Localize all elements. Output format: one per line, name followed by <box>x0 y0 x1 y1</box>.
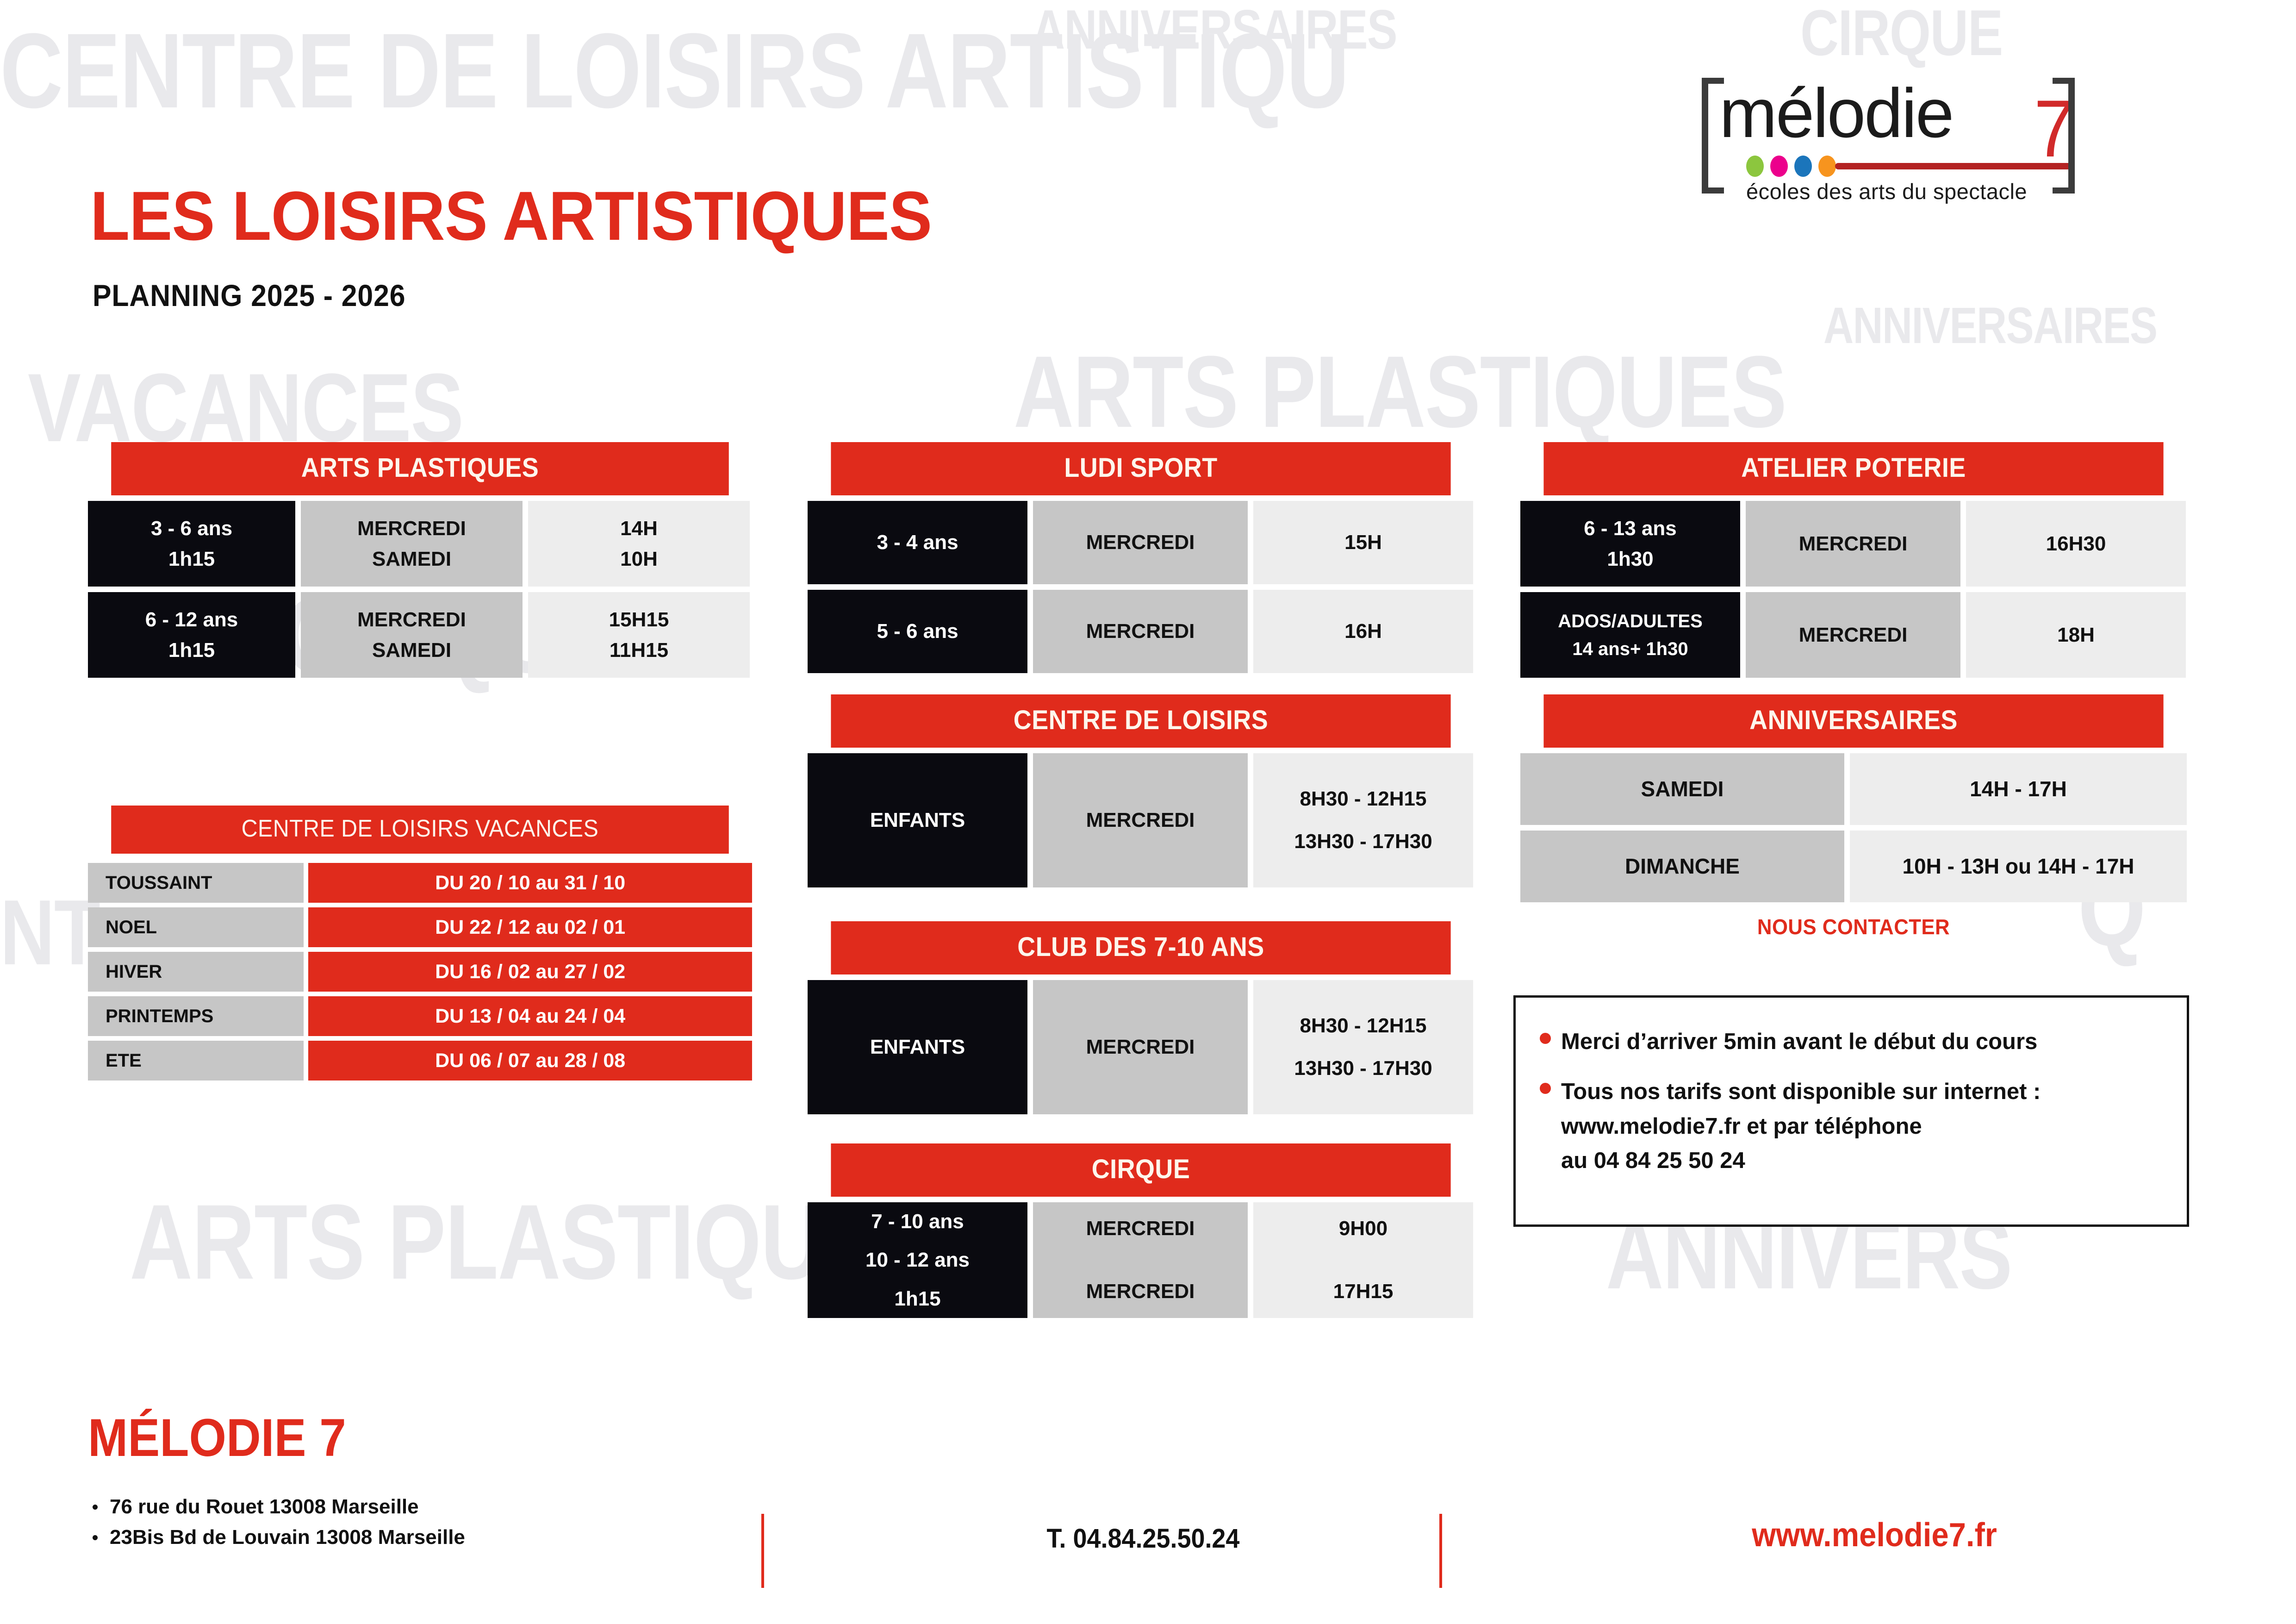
cell-text: 10H <box>620 544 658 575</box>
cell-age-group: 7 - 10 ans10 - 12 ans1h15 <box>808 1202 1027 1318</box>
table-arts-plastiques: ARTS PLASTIQUES 3 - 6 ans1h15MERCREDISAM… <box>88 442 752 678</box>
table-row: 6 - 13 ans1h30MERCREDI16H30 <box>1520 501 2187 587</box>
caption-cirque: CIRQUE <box>831 1143 1450 1197</box>
caption-atelier-poterie: ATELIER POTERIE <box>1543 442 2163 495</box>
bracket-right-bottom <box>2053 187 2075 194</box>
cell-text: 1h30 <box>1607 544 1653 575</box>
table-cirque: CIRQUE 7 - 10 ans10 - 12 ans1h15MERCREDI… <box>808 1143 1474 1318</box>
table-atelier-poterie: ATELIER POTERIE 6 - 13 ans1h30MERCREDI16… <box>1520 442 2187 678</box>
table-row: ADOS/ADULTES14 ans+ 1h30MERCREDI18H <box>1520 592 2187 678</box>
bullet-dot-icon <box>93 1535 98 1540</box>
vacances-row: TOUSSAINTDU 20 / 10 au 31 / 10 <box>88 863 752 903</box>
vacances-period-name: PRINTEMPS <box>88 996 304 1036</box>
table-row: 3 - 4 ansMERCREDI15H <box>808 501 1474 584</box>
cell-text: 1h15 <box>168 544 215 575</box>
footer-phone[interactable]: T. 04.84.25.50.24 <box>950 1523 1337 1554</box>
cell-day: MERCREDI <box>1033 980 1248 1114</box>
table-anniversaires: ANNIVERSAIRES SAMEDI14H - 17HDIMANCHE10H… <box>1520 694 2187 939</box>
table-row: 5 - 6 ansMERCREDI16H <box>808 590 1474 673</box>
cell-text: MERCREDI <box>357 513 466 544</box>
cell-text: 1h15 <box>168 635 215 666</box>
cell-text: MERCREDI <box>1799 620 1908 650</box>
table-vacances: CENTRE DE LOISIRS VACANCES TOUSSAINTDU 2… <box>88 806 752 1085</box>
logo-wordmark: mélodie <box>1719 73 1953 153</box>
melodie7-logo: mélodie 7 écoles des arts du spectacle <box>1692 65 2108 204</box>
cell-text: MERCREDI <box>1086 805 1195 836</box>
footer-address-text: 76 rue du Rouet 13008 Marseille <box>110 1495 419 1518</box>
footer-website[interactable]: www.melodie7.fr <box>1616 1516 2133 1554</box>
page-subtitle: PLANNING 2025 - 2026 <box>93 278 405 313</box>
cell-text: MERCREDI <box>1799 529 1908 559</box>
vacances-period-dates: DU 20 / 10 au 31 / 10 <box>308 863 752 903</box>
bracket-left-bottom <box>1702 187 1724 194</box>
table-row: DIMANCHE10H - 13H ou 14H - 17H <box>1520 831 2187 902</box>
cell-text: 13H30 - 17H30 <box>1294 820 1432 863</box>
cell-text: 15H15 <box>609 605 669 635</box>
cell-day: MERCREDI <box>1746 501 1960 587</box>
vacances-row: ETEDU 06 / 07 au 28 / 08 <box>88 1041 752 1081</box>
cell-day: MERCREDI <box>1746 592 1960 678</box>
dot-pink <box>1770 156 1788 177</box>
caption-vacances: CENTRE DE LOISIRS VACANCES <box>111 806 729 854</box>
cell-text: MERCREDI <box>1086 1197 1195 1260</box>
cell-text: 10 - 12 ans <box>865 1241 970 1280</box>
bracket-left-stem <box>1702 78 1708 194</box>
info-bullet-text: Tous nos tarifs sont disponible sur inte… <box>1561 1074 2041 1178</box>
cell-age-group: ENFANTS <box>808 753 1027 887</box>
cell-text: 8H30 - 12H15 <box>1300 1005 1427 1047</box>
cell-text: 3 - 6 ans <box>151 513 232 544</box>
vacances-period-dates: DU 06 / 07 au 28 / 08 <box>308 1041 752 1081</box>
cell-text: 1h15 <box>894 1280 940 1318</box>
caption-centre-loisirs: CENTRE DE LOISIRS <box>831 694 1450 748</box>
cell-text: 8H30 - 12H15 <box>1300 778 1427 820</box>
bullet-dot-icon <box>93 1505 98 1510</box>
cell-time: 8H30 - 12H1513H30 - 17H30 <box>1253 980 1473 1114</box>
info-bullet-item: Merci d’arriver 5min avant le début du c… <box>1540 1024 2163 1059</box>
cell-age-group: 3 - 6 ans1h15 <box>88 501 295 587</box>
cell-day: MERCREDISAMEDI <box>301 501 523 587</box>
cell-text: MERCREDI <box>1086 527 1195 558</box>
cell-text: ENFANTS <box>870 805 965 836</box>
footer-address-item: 23Bis Bd de Louvain 13008 Marseille <box>93 1526 465 1549</box>
nous-contacter-label: NOUS CONTACTER <box>1537 914 2170 939</box>
cell-age-group: 6 - 12 ans1h15 <box>88 592 295 678</box>
cell-text: ENFANTS <box>870 1032 965 1062</box>
logo-rule <box>1835 163 2071 169</box>
cell-time: 14H10H <box>528 501 750 587</box>
cell-day: MERCREDISAMEDI <box>301 592 523 678</box>
caption-arts-plastiques: ARTS PLASTIQUES <box>111 442 729 495</box>
vacances-period-name: ETE <box>88 1041 304 1081</box>
table-row: ENFANTSMERCREDI8H30 - 12H1513H30 - 17H30 <box>808 753 1474 887</box>
cell-text: SAMEDI <box>372 544 451 575</box>
table-ludi-sport: LUDI SPORT 3 - 4 ansMERCREDI15H5 - 6 ans… <box>808 442 1474 673</box>
cell-text: 9H00 <box>1339 1197 1388 1260</box>
cell-text: 5 - 6 ans <box>877 616 958 647</box>
vacances-row: PRINTEMPSDU 13 / 04 au 24 / 04 <box>88 996 752 1036</box>
info-box: Merci d’arriver 5min avant le début du c… <box>1513 995 2189 1227</box>
cell-text: 7 - 10 ans <box>871 1202 964 1241</box>
cell-text: 6 - 13 ans <box>1584 513 1677 544</box>
table-row: 7 - 10 ans10 - 12 ans1h15MERCREDIMERCRED… <box>808 1202 1474 1318</box>
cell-age-group: ENFANTS <box>808 980 1027 1114</box>
cell-text: 3 - 4 ans <box>877 527 958 558</box>
footer-address-list: 76 rue du Rouet 13008 Marseille23Bis Bd … <box>93 1495 465 1556</box>
vacances-period-name: HIVER <box>88 952 304 992</box>
vacances-period-dates: DU 13 / 04 au 24 / 04 <box>308 996 752 1036</box>
table-centre-loisirs: CENTRE DE LOISIRS ENFANTSMERCREDI8H30 - … <box>808 694 1474 887</box>
cell-text: SAMEDI <box>372 635 451 666</box>
cell-text: 15H <box>1344 527 1382 558</box>
cell-time: 16H <box>1253 590 1473 673</box>
cell-day: MERCREDI <box>1033 590 1248 673</box>
cell-text: MERCREDI <box>357 605 466 635</box>
dot-green <box>1746 156 1764 177</box>
cell-time: 15H <box>1253 501 1473 584</box>
cell-text: 14 ans+ 1h30 <box>1572 635 1688 663</box>
cell-text: 16H30 <box>2046 529 2106 559</box>
cell-text: ADOS/ADULTES <box>1558 607 1703 635</box>
vacances-period-name: TOUSSAINT <box>88 863 304 903</box>
cell-age-group: 6 - 13 ans1h30 <box>1520 501 1740 587</box>
bullet-dot-icon <box>1540 1033 1551 1044</box>
cell-text: MERCREDI <box>1086 616 1195 647</box>
cell-time: 18H <box>1966 592 2186 678</box>
footer-brand-name: MÉLODIE 7 <box>88 1407 346 1468</box>
cell-text: MERCREDI <box>1086 1260 1195 1323</box>
cell-text: 11H15 <box>610 635 668 666</box>
cell-age-group: ADOS/ADULTES14 ans+ 1h30 <box>1520 592 1740 678</box>
logo-color-dots <box>1746 156 1836 177</box>
caption-club-7-10: CLUB DES 7-10 ANS <box>831 921 1450 974</box>
cell-text: 13H30 - 17H30 <box>1294 1047 1432 1090</box>
cell-time: 15H1511H15 <box>528 592 750 678</box>
vacances-period-dates: DU 16 / 02 au 27 / 02 <box>308 952 752 992</box>
bracket-right-stem <box>2068 78 2075 194</box>
table-row: 6 - 12 ans1h15MERCREDISAMEDI15H1511H15 <box>88 592 752 678</box>
cell-time: 8H30 - 12H1513H30 - 17H30 <box>1253 753 1473 887</box>
caption-anniversaires: ANNIVERSAIRES <box>1543 694 2163 748</box>
dot-blue <box>1794 156 1812 177</box>
vacances-row: HIVERDU 16 / 02 au 27 / 02 <box>88 952 752 992</box>
cell-day: DIMANCHE <box>1520 831 1844 902</box>
cell-text: 17H15 <box>1333 1260 1394 1323</box>
cell-text: 14H <box>620 513 658 544</box>
cell-day: MERCREDI <box>1033 501 1248 584</box>
cell-time: 16H30 <box>1966 501 2186 587</box>
table-row: ENFANTSMERCREDI8H30 - 12H1513H30 - 17H30 <box>808 980 1474 1114</box>
cell-time: 9H0017H15 <box>1253 1202 1473 1318</box>
footer-divider-1 <box>761 1514 764 1588</box>
cell-text: 18H <box>2057 620 2095 650</box>
bracket-right-top <box>2053 78 2075 84</box>
table-club-7-10: CLUB DES 7-10 ANS ENFANTSMERCREDI8H30 - … <box>808 921 1474 1114</box>
vacances-period-name: NOEL <box>88 907 304 947</box>
footer-address-item: 76 rue du Rouet 13008 Marseille <box>93 1495 465 1518</box>
cell-time: 10H - 13H ou 14H - 17H <box>1850 831 2187 902</box>
cell-text: 6 - 12 ans <box>145 605 238 635</box>
dot-orange <box>1818 156 1836 177</box>
cell-age-group: 3 - 4 ans <box>808 501 1027 584</box>
cell-text: MERCREDI <box>1086 1032 1195 1062</box>
footer-divider-2 <box>1439 1514 1442 1588</box>
info-bullet-text: Merci d’arriver 5min avant le début du c… <box>1561 1024 2037 1059</box>
vacances-period-dates: DU 22 / 12 au 02 / 01 <box>308 907 752 947</box>
info-bullet-item: Tous nos tarifs sont disponible sur inte… <box>1540 1074 2163 1178</box>
cell-text: 16H <box>1344 616 1382 647</box>
table-row: 3 - 6 ans1h15MERCREDISAMEDI14H10H <box>88 501 752 587</box>
cell-day: MERCREDI <box>1033 753 1248 887</box>
vacances-row: NOELDU 22 / 12 au 02 / 01 <box>88 907 752 947</box>
footer-address-text: 23Bis Bd de Louvain 13008 Marseille <box>110 1526 465 1549</box>
cell-day: SAMEDI <box>1520 753 1844 825</box>
cell-time: 14H - 17H <box>1850 753 2187 825</box>
table-row: SAMEDI14H - 17H <box>1520 753 2187 825</box>
cell-day: MERCREDIMERCREDI <box>1033 1202 1248 1318</box>
page-title: LES LOISIRS ARTISTIQUES <box>90 176 932 256</box>
logo-tagline: écoles des arts du spectacle <box>1746 179 2027 204</box>
bullet-dot-icon <box>1540 1083 1551 1094</box>
caption-ludi-sport: LUDI SPORT <box>831 442 1450 495</box>
cell-age-group: 5 - 6 ans <box>808 590 1027 673</box>
